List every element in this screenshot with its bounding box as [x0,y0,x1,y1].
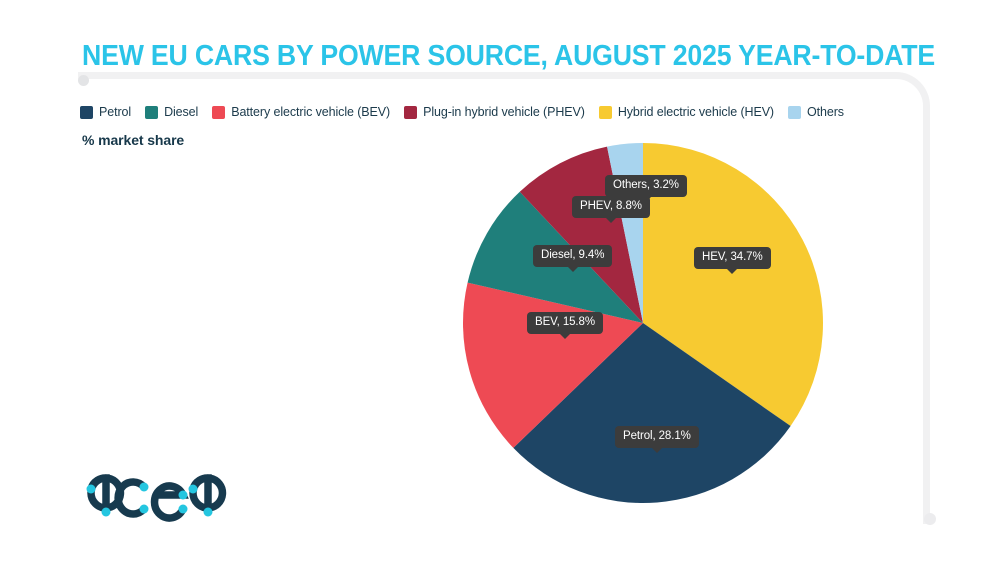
data-label-diesel: Diesel, 9.4% [533,245,612,267]
data-label-others: Others, 3.2% [605,175,687,197]
legend-swatch-diesel [145,106,158,119]
legend-swatch-phev [404,106,417,119]
legend-label-phev: Plug-in hybrid vehicle (PHEV) [423,105,585,119]
legend-swatch-hev [599,106,612,119]
page-title: NEW EU CARS BY POWER SOURCE, AUGUST 2025… [82,40,935,73]
legend-item-others[interactable]: Others [788,105,844,119]
legend-item-hev[interactable]: Hybrid electric vehicle (HEV) [599,105,774,119]
legend-item-bev[interactable]: Battery electric vehicle (BEV) [212,105,390,119]
legend-item-petrol[interactable]: Petrol [80,105,131,119]
data-label-hev: HEV, 34.7% [694,247,771,269]
legend-swatch-others [788,106,801,119]
acea-logo: acea [80,466,230,528]
data-label-bev: BEV, 15.8% [527,312,603,334]
legend-swatch-petrol [80,106,93,119]
legend-item-phev[interactable]: Plug-in hybrid vehicle (PHEV) [404,105,585,119]
panel-handle-dot-bottom [924,513,936,525]
legend-label-others: Others [807,105,844,119]
axis-subtitle: % market share [82,132,184,148]
chart-legend: Petrol Diesel Battery electric vehicle (… [80,105,858,119]
legend-label-hev: Hybrid electric vehicle (HEV) [618,105,774,119]
legend-label-petrol: Petrol [99,105,131,119]
legend-swatch-bev [212,106,225,119]
legend-label-diesel: Diesel [164,105,198,119]
legend-label-bev: Battery electric vehicle (BEV) [231,105,390,119]
legend-item-diesel[interactable]: Diesel [145,105,198,119]
panel-handle-dot-left [78,75,89,86]
data-label-petrol: Petrol, 28.1% [615,426,699,448]
data-label-phev: PHEV, 8.8% [572,196,650,218]
